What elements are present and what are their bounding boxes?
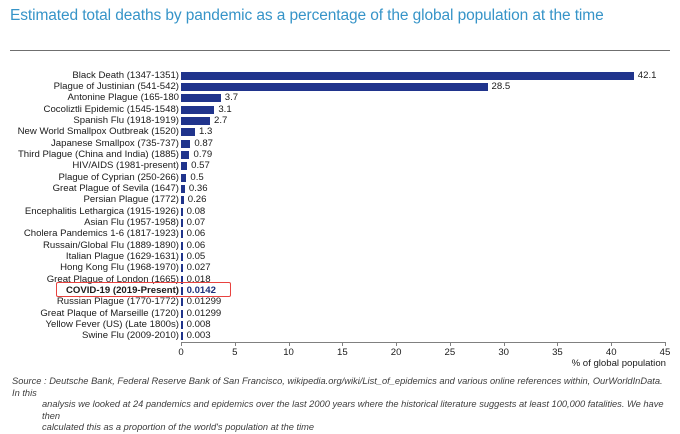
x-axis-tick (396, 342, 397, 346)
bar (181, 117, 210, 125)
bar-value-label: 0.5 (190, 173, 203, 183)
source-note-line-1: Source : Deutsche Bank, Federal Reserve … (12, 376, 663, 398)
bar-value-label: 0.26 (188, 195, 207, 205)
bar-row: Persian Plague (1772)0.26 (0, 195, 680, 206)
bar-category-label: Great Plaque of Marseille (1720) (40, 309, 179, 319)
bar-row: Spanish Flu (1918-1919)2.7 (0, 115, 680, 126)
bar-value-label: 0.01299 (187, 309, 222, 319)
x-axis-tick-label: 0 (178, 347, 183, 358)
x-axis-tick (504, 342, 505, 346)
bar-value-label: 0.07 (187, 218, 206, 228)
x-axis-tick (450, 342, 451, 346)
bar (181, 128, 195, 136)
bar (181, 83, 488, 91)
bar-category-label: Plague of Cyprian (250-266) (58, 173, 179, 183)
bar-row: Yellow Fever (US) (Late 1800s)0.008 (0, 319, 680, 330)
bar-category-label: Asian Flu (1957-1958) (84, 218, 179, 228)
bar (181, 196, 184, 204)
bar-row: Third Plague (China and India) (1885)0.7… (0, 149, 680, 160)
bar (181, 208, 183, 216)
bar-row: Russian Plague (1770-1772)0.01299 (0, 297, 680, 308)
bar (181, 332, 183, 340)
bar (181, 276, 183, 284)
bar-row: Hong Kong Flu (1968-1970)0.027 (0, 263, 680, 274)
bar (181, 230, 183, 238)
x-axis-label: % of global population (572, 358, 666, 369)
bar-row: Cocoliztli Epidemic (1545-1548)3.1 (0, 104, 680, 115)
bar-category-label: Russian Plague (1770-1772) (57, 297, 179, 307)
x-axis-line (181, 342, 665, 343)
x-axis-tick-label: 10 (283, 347, 294, 358)
bar-row: Encephalitis Lethargica (1915-1926)0.08 (0, 206, 680, 217)
bar-category-label: Great Plague of London (1665) (47, 275, 179, 285)
bar-value-label: 3.7 (225, 93, 238, 103)
page-title: Estimated total deaths by pandemic as a … (10, 6, 665, 26)
bar (181, 321, 183, 329)
bar-row: New World Smallpox Outbreak (1520)1.3 (0, 127, 680, 138)
bar-value-label: 0.008 (187, 320, 211, 330)
bar-category-label: Great Plague of Sevila (1647) (53, 184, 179, 194)
x-axis-tick (235, 342, 236, 346)
bar-category-label: Italian Plague (1629-1631) (66, 252, 179, 262)
bar-value-label: 2.7 (214, 116, 227, 126)
x-axis-tick-label: 30 (498, 347, 509, 358)
title-divider (10, 50, 670, 51)
bar-row: COVID-19 (2019-Present)0.0142 (0, 285, 680, 296)
bar-category-label: Spanish Flu (1918-1919) (73, 116, 179, 126)
bar-value-label: 0.36 (189, 184, 208, 194)
bar (181, 174, 186, 182)
bar-row: Russain/Global Flu (1889-1890)0.06 (0, 240, 680, 251)
bar-value-label: 0.018 (187, 275, 211, 285)
bar-row: Great Plaque of Marseille (1720)0.01299 (0, 308, 680, 319)
bar-category-label: Persian Plague (1772) (84, 195, 179, 205)
x-axis-tick-label: 45 (660, 347, 671, 358)
bar-category-label: HIV/AIDS (1981-present) (72, 161, 179, 171)
bar-row: Great Plague of London (1665)0.018 (0, 274, 680, 285)
bar-row: Plague of Justinian (541-542)28.5 (0, 81, 680, 92)
bar-row: Great Plague of Sevila (1647)0.36 (0, 183, 680, 194)
bar-value-label: 28.5 (492, 82, 511, 92)
bar (181, 162, 187, 170)
bar-category-label: New World Smallpox Outbreak (1520) (18, 127, 179, 137)
bar-chart-plot-area: Black Death (1347-1351)42.1Plague of Jus… (0, 70, 680, 342)
bar (181, 242, 183, 250)
source-note-line-3: calculated this as a proportion of the w… (12, 422, 668, 434)
x-axis-tick-label: 25 (445, 347, 456, 358)
bar-category-label: Black Death (1347-1351) (72, 71, 179, 81)
bar-row: Black Death (1347-1351)42.1 (0, 70, 680, 81)
bar (181, 151, 189, 159)
bar-row: Asian Flu (1957-1958)0.07 (0, 217, 680, 228)
bar-value-label: 1.3 (199, 127, 212, 137)
x-axis-tick (665, 342, 666, 346)
bar-category-label: Third Plague (China and India) (1885) (18, 150, 179, 160)
bar-row: Japanese Smallpox (735-737)0.87 (0, 138, 680, 149)
bar-row: Italian Plague (1629-1631)0.05 (0, 251, 680, 262)
bar-value-label: 0.06 (187, 241, 206, 251)
bar-value-label: 0.027 (187, 263, 211, 273)
bar-category-label: Swine Flu (2009-2010) (82, 331, 179, 341)
source-note: Source : Deutsche Bank, Federal Reserve … (12, 376, 668, 434)
bar-value-label: 0.08 (187, 207, 206, 217)
bar-value-label: 0.003 (187, 331, 211, 341)
bar-row: Plague of Cyprian (250-266)0.5 (0, 172, 680, 183)
bar-category-label: Russain/Global Flu (1889-1890) (43, 241, 179, 251)
bar (181, 140, 190, 148)
bar-row: Cholera Pandemics 1-6 (1817-1923)0.06 (0, 229, 680, 240)
x-axis-tick-label: 15 (337, 347, 348, 358)
bar (181, 253, 183, 261)
bar-row: Swine Flu (2009-2010)0.003 (0, 331, 680, 342)
bar-value-label: 0.0142 (187, 286, 216, 296)
x-axis-tick (611, 342, 612, 346)
bar-value-label: 3.1 (218, 105, 231, 115)
source-note-line-2: analysis we looked at 24 pandemics and e… (12, 399, 668, 422)
bar-category-label: Yellow Fever (US) (Late 1800s) (46, 320, 179, 330)
bar-value-label: 0.79 (193, 150, 212, 160)
x-axis-tick (557, 342, 558, 346)
bar (181, 219, 183, 227)
bar-row: HIV/AIDS (1981-present)0.57 (0, 161, 680, 172)
x-axis-tick (342, 342, 343, 346)
bar (181, 94, 221, 102)
bar-row: Antonine Plague (165-1803.7 (0, 93, 680, 104)
bar-category-label: Antonine Plague (165-180 (68, 93, 179, 103)
bar-value-label: 0.05 (187, 252, 206, 262)
bar-category-label: Plague of Justinian (541-542) (54, 82, 179, 92)
x-axis-tick-label: 40 (606, 347, 617, 358)
bar (181, 287, 183, 295)
bar (181, 310, 183, 318)
x-axis-tick (289, 342, 290, 346)
bar-category-label: COVID-19 (2019-Present) (66, 286, 179, 296)
bar (181, 298, 183, 306)
bar (181, 106, 214, 114)
bar-value-label: 42.1 (638, 71, 657, 81)
x-axis-tick (181, 342, 182, 346)
bar-category-label: Japanese Smallpox (735-737) (51, 139, 179, 149)
bar-category-label: Hong Kong Flu (1968-1970) (60, 263, 179, 273)
bar (181, 264, 183, 272)
bar (181, 185, 185, 193)
x-axis-tick-label: 5 (232, 347, 237, 358)
x-axis-tick-label: 20 (391, 347, 402, 358)
bar-value-label: 0.06 (187, 229, 206, 239)
bar-value-label: 0.87 (194, 139, 213, 149)
x-axis-tick-label: 35 (552, 347, 563, 358)
bar (181, 72, 634, 80)
bar-category-label: Cocoliztli Epidemic (1545-1548) (44, 105, 179, 115)
bar-category-label: Cholera Pandemics 1-6 (1817-1923) (24, 229, 179, 239)
bar-category-label: Encephalitis Lethargica (1915-1926) (25, 207, 179, 217)
bar-value-label: 0.57 (191, 161, 210, 171)
bar-value-label: 0.01299 (187, 297, 222, 307)
